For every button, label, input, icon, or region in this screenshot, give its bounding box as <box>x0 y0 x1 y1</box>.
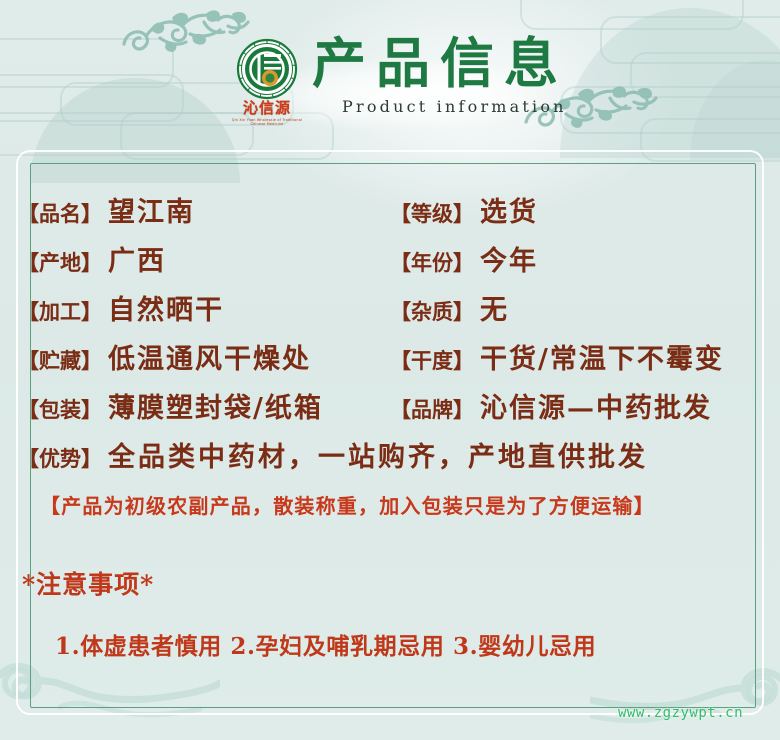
caution-heading: *注意事项* <box>22 565 154 601</box>
spec-value: 干货/常温下不霉变 <box>480 337 724 376</box>
spec-value: 低温通风干燥处 <box>108 337 311 376</box>
logo-brand-subtitle: Qin Xin Yuan Wholesale of Traditional Ch… <box>228 118 306 126</box>
product-info-content: 【品名】 望江南 【等级】 选货 【产地】 广西 【年份】 今年 <box>0 150 780 715</box>
spec-value: 薄膜塑封袋/纸箱 <box>108 386 323 425</box>
spec-label: 【品名】 <box>18 198 102 228</box>
spec-cell-processing: 【加工】 自然晒干 <box>18 288 390 327</box>
spec-label: 【加工】 <box>18 296 102 326</box>
page-subtitle: Product information <box>342 97 612 116</box>
spec-cell-year: 【年份】 今年 <box>390 239 770 278</box>
product-info-page: 沁信源 Qin Xin Yuan Wholesale of Traditiona… <box>0 0 780 740</box>
spec-cell-packaging: 【包装】 薄膜塑封袋/纸箱 <box>18 386 390 425</box>
logo-brand-name: 沁信源 <box>228 101 306 117</box>
caution-items: 1.体虚患者慎用 2.孕妇及哺乳期忌用 3.婴幼儿忌用 <box>55 627 596 661</box>
advantage-row: 【优势】 全品类中药材，一站购齐，产地直供批发 <box>18 435 648 474</box>
spec-label: 【等级】 <box>390 198 474 228</box>
spec-cell-name: 【品名】 望江南 <box>18 190 390 229</box>
spec-cell-brand: 【品牌】 沁信源—中药批发 <box>390 386 770 425</box>
spec-label: 【包装】 <box>18 394 102 424</box>
spec-value: 选货 <box>480 190 538 229</box>
site-watermark: www.zgzywpt.cn <box>618 705 743 721</box>
spec-cell-storage: 【贮藏】 低温通风干燥处 <box>18 337 390 376</box>
page-title: 产品信息 <box>312 36 612 91</box>
spec-cell-impurity: 【杂质】 无 <box>390 288 770 327</box>
page-header: 沁信源 Qin Xin Yuan Wholesale of Traditiona… <box>0 0 780 148</box>
advantage-label: 【优势】 <box>18 443 102 473</box>
spec-cell-origin: 【产地】 广西 <box>18 239 390 278</box>
header-title-block: 产品信息 Product information <box>312 36 612 116</box>
spec-cell-grade: 【等级】 选货 <box>390 190 770 229</box>
spec-label: 【产地】 <box>18 247 102 277</box>
advantage-value: 全品类中药材，一站购齐，产地直供批发 <box>108 435 648 474</box>
spec-label: 【年份】 <box>390 247 474 277</box>
spec-label: 【干度】 <box>390 345 474 375</box>
spec-row: 【包装】 薄膜塑封袋/纸箱 【品牌】 沁信源—中药批发 <box>18 386 770 435</box>
spec-value: 沁信源—中药批发 <box>480 386 712 425</box>
spec-label: 【贮藏】 <box>18 345 102 375</box>
spec-value: 今年 <box>480 239 538 278</box>
spec-label: 【品牌】 <box>390 394 474 424</box>
spec-row: 【加工】 自然晒干 【杂质】 无 <box>18 288 770 337</box>
product-note: 【产品为初级农副产品，散装称重，加入包装只是为了方便运输】 <box>40 490 760 519</box>
logo-emblem-icon <box>236 38 298 100</box>
spec-label: 【杂质】 <box>390 296 474 326</box>
brand-logo: 沁信源 Qin Xin Yuan Wholesale of Traditiona… <box>228 38 306 130</box>
spec-table: 【品名】 望江南 【等级】 选货 【产地】 广西 【年份】 今年 <box>18 190 770 435</box>
spec-value: 望江南 <box>108 190 195 229</box>
spec-row: 【产地】 广西 【年份】 今年 <box>18 239 770 288</box>
spec-value: 广西 <box>108 239 166 278</box>
spec-value: 无 <box>480 288 509 327</box>
spec-value: 自然晒干 <box>108 288 224 327</box>
spec-row: 【品名】 望江南 【等级】 选货 <box>18 190 770 239</box>
spec-row: 【贮藏】 低温通风干燥处 【干度】 干货/常温下不霉变 <box>18 337 770 386</box>
spec-cell-dryness: 【干度】 干货/常温下不霉变 <box>390 337 770 376</box>
